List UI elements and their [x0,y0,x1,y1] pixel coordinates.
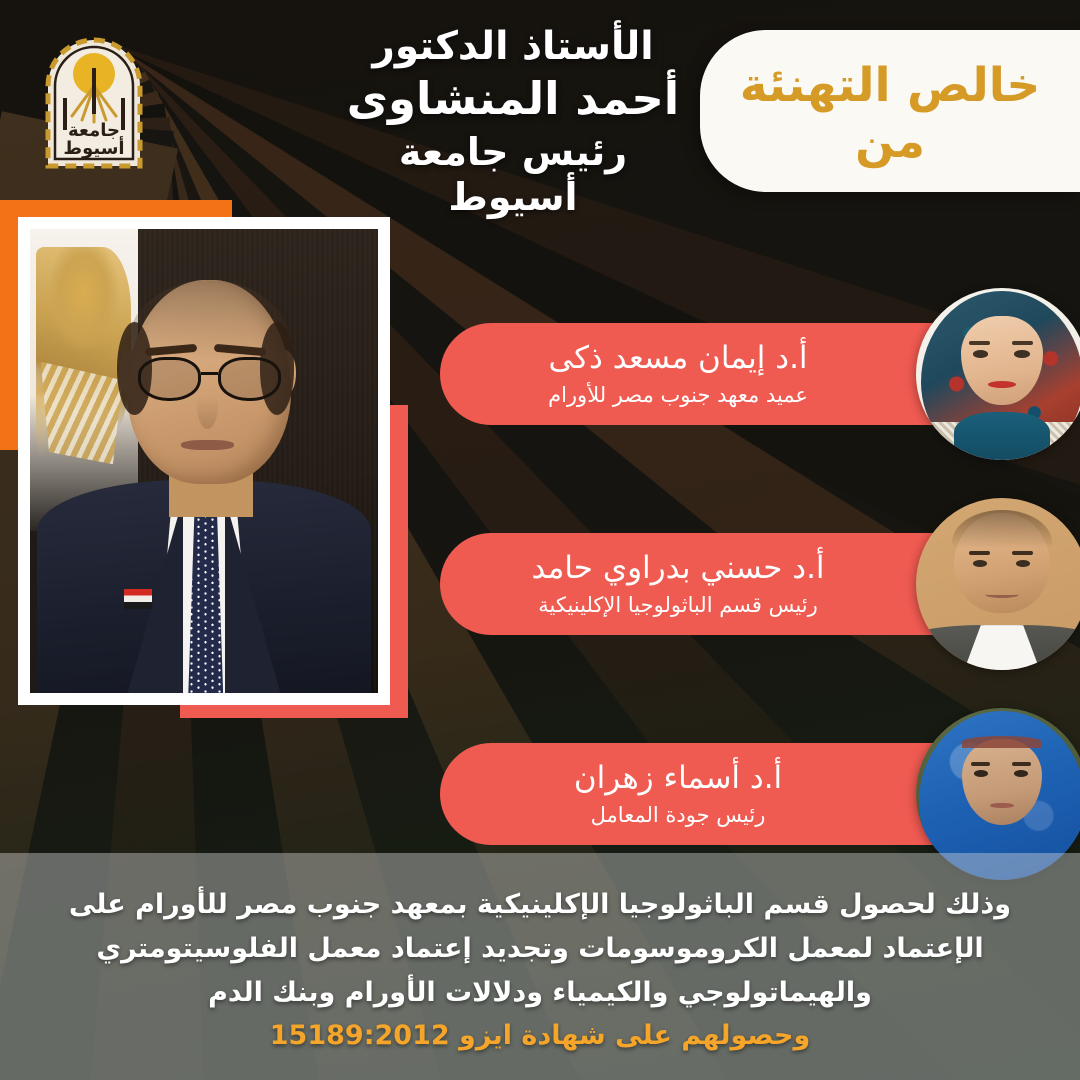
avatar-eye-left [974,770,988,777]
person-name-pill: أ.د حسني بدراوي حامد رئيس قسم الباثولوجي… [440,533,978,635]
portrait-white-frame [18,217,390,705]
avatar-eye-right [1016,560,1030,567]
figure-mouth [181,440,233,450]
avatar-hair [952,510,1052,548]
person-row: أ.د حسني بدراوي حامد رئيس قسم الباثولوجي… [440,498,1060,670]
congratulations-badge: خالص التهنئة من [700,30,1080,192]
headline-block: الأستاذ الدكتور أحمد المنشاوى رئيس جامعة… [338,24,688,219]
person-role: رئيس جودة المعامل [591,802,766,828]
person-name: أ.د أسماء زهران [574,760,782,797]
avatar-brow-left [969,341,990,345]
person-name: أ.د إيمان مسعد ذكى [548,340,807,377]
congrats-badge-line-2: من [855,117,925,165]
avatar-neckwear [954,412,1050,460]
person-name-pill: أ.د أسماء زهران رئيس جودة المعامل [440,743,978,845]
glasses-bridge [201,372,218,375]
main-portrait-composition [0,200,415,725]
person-name-pill: أ.د إيمان مسعد ذكى عميد معهد جنوب مصر لل… [440,323,978,425]
avatar-smile [985,591,1019,598]
avatar-headband [962,736,1041,748]
lens-left [138,357,201,401]
bottom-text-line-1: وذلك لحصول قسم الباثولوجيا الإكلينيكية ب… [28,888,1052,922]
avatar-eye-right [1014,770,1028,777]
avatar-eye-left [973,560,987,567]
avatar-brow-right [1012,762,1031,766]
bottom-text-line-2: الإعتماد لمعمل الكروموسومات وتجديد إعتما… [28,932,1052,966]
person-role: رئيس قسم الباثولوجيا الإكلينيكية [538,592,817,618]
avatar-brow-left [969,551,990,555]
egypt-flag-pin-icon [124,589,152,610]
headline-line-1: الأستاذ الدكتور [338,24,688,69]
woman-floral-hijab-avatar [916,288,1080,460]
person-role: عميد معهد جنوب مصر للأورام [548,382,808,408]
avatar-brow-left [971,762,990,766]
president-portrait-photo [30,229,378,693]
avatar-lips [988,381,1016,388]
bottom-text-line-3: والهيماتولوجي والكيمياء ودلالات الأورام … [28,976,1052,1010]
assiut-university-logo: جامعة أسيوط [38,24,150,172]
congratulation-poster: جامعة أسيوط الأستاذ الدكتور أحمد المنشاو… [0,0,1080,1080]
headline-line-3: رئيس جامعة أسيوط [338,130,688,218]
avatar-brow-right [1012,551,1033,555]
man-grey-jacket-avatar [916,498,1080,670]
lens-right [218,357,281,401]
avatar-eye-right [1014,350,1029,358]
congrats-badge-line-1: خالص التهنئة [740,61,1041,110]
bottom-text-line-4-iso: وحصولهم على شهادة ايزو 15189:2012 [28,1019,1052,1053]
logo-line2-text: أسيوط [63,136,124,159]
bottom-announcement-banner: وذلك لحصول قسم الباثولوجيا الإكلينيكية ب… [0,853,1080,1080]
portrait-figure [30,229,378,693]
avatar-brow-right [1012,341,1033,345]
figure-nose [197,382,218,428]
person-row: أ.د إيمان مسعد ذكى عميد معهد جنوب مصر لل… [440,288,1060,460]
headline-line-2: أحمد المنشاوى [338,73,688,125]
avatar-eye-left [973,350,988,358]
person-name: أ.د حسني بدراوي حامد [531,550,824,587]
